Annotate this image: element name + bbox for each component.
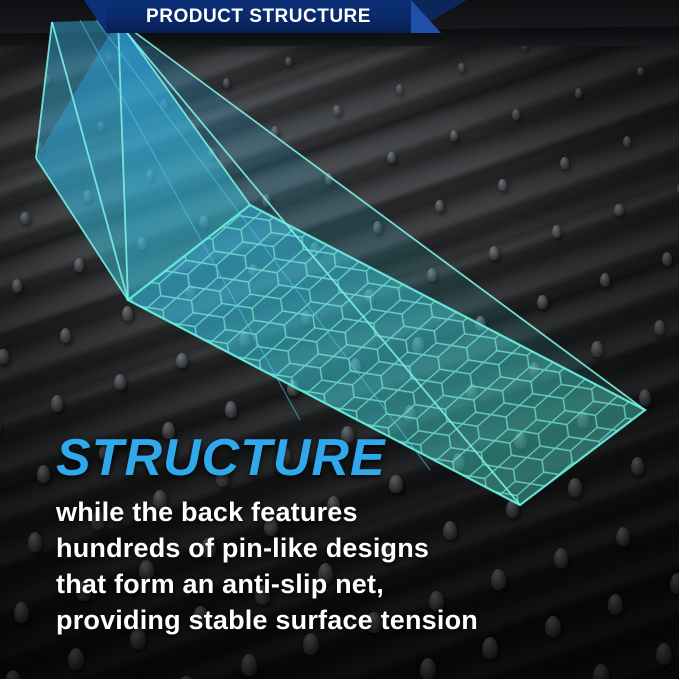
caption-line-4: providing stable surface tension: [56, 602, 478, 638]
product-structure-image: PRODUCT STRUCTURE STRUCTURE while the ba…: [0, 0, 679, 679]
banner-left-wedge: [84, 0, 106, 33]
caption-line-1: while the back features: [56, 494, 478, 530]
banner-title: PRODUCT STRUCTURE: [106, 0, 411, 33]
banner-product-structure: PRODUCT STRUCTURE: [106, 0, 411, 33]
caption-block: STRUCTURE while the back features hundre…: [56, 432, 478, 638]
caption-headline: STRUCTURE: [56, 432, 478, 484]
caption-line-3: that form an anti-slip net,: [56, 566, 478, 602]
caption-body: while the back features hundreds of pin-…: [56, 494, 478, 638]
caption-line-2: hundreds of pin-like designs: [56, 530, 478, 566]
banner-right-wedge: [411, 0, 441, 33]
